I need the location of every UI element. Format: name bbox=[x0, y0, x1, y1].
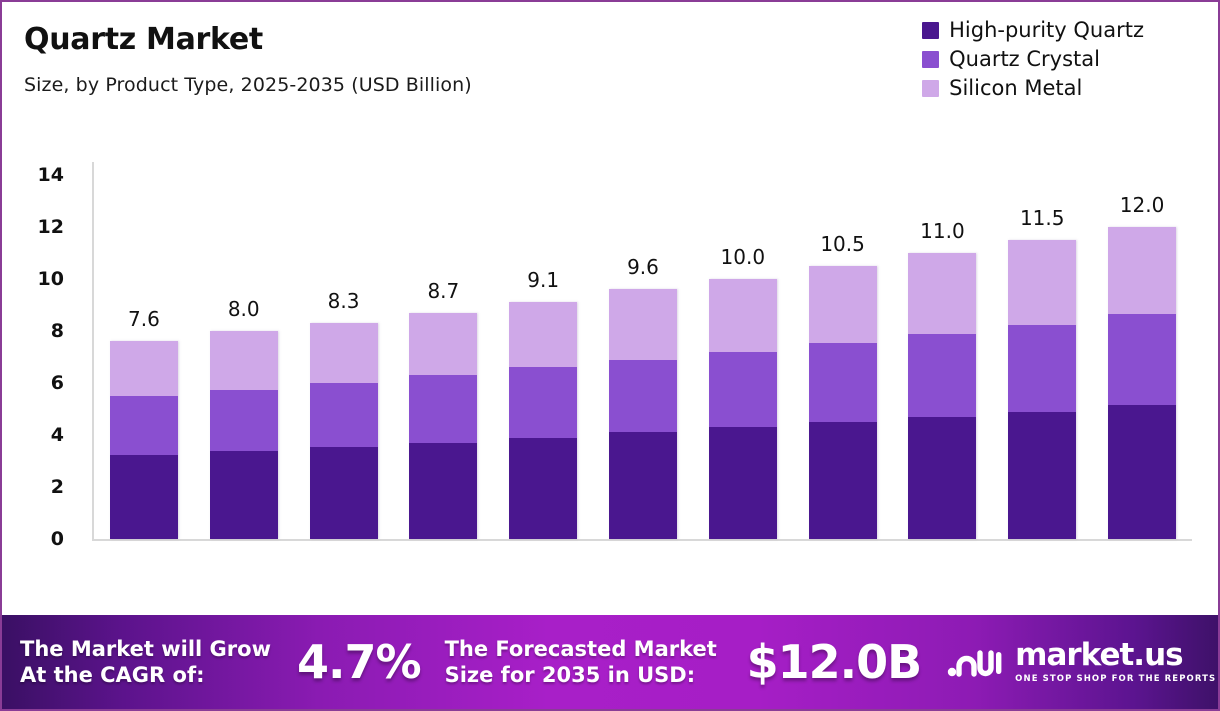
y-axis-tick-label: 0 bbox=[24, 528, 64, 550]
bar-segment-quartz-crystal[interactable] bbox=[509, 367, 577, 437]
bar-segment-quartz-crystal[interactable] bbox=[1008, 325, 1076, 412]
y-axis-tick-label: 2 bbox=[24, 476, 64, 498]
bar-group-2025[interactable]: 7.6 bbox=[110, 132, 178, 539]
bar-stack[interactable] bbox=[1008, 240, 1076, 539]
bar-segment-quartz-crystal[interactable] bbox=[409, 375, 477, 443]
bar-segment-silicon-metal[interactable] bbox=[210, 331, 278, 390]
y-axis-tick-label: 10 bbox=[24, 268, 64, 290]
bar-segment-high-purity-quartz[interactable] bbox=[310, 447, 378, 539]
bar-value-label: 12.0 bbox=[1120, 193, 1165, 217]
bar-segment-high-purity-quartz[interactable] bbox=[1108, 405, 1176, 539]
bar-stack[interactable] bbox=[509, 302, 577, 539]
bar-segment-quartz-crystal[interactable] bbox=[709, 352, 777, 427]
chart-header: Quartz Market Size, by Product Type, 202… bbox=[2, 2, 1218, 132]
brand-wordmark: market.us ONE STOP SHOP FOR THE REPORTS bbox=[1015, 640, 1216, 684]
bar-stack[interactable] bbox=[210, 331, 278, 539]
bar-segment-quartz-crystal[interactable] bbox=[1108, 314, 1176, 405]
bar-segment-high-purity-quartz[interactable] bbox=[709, 427, 777, 539]
plot-area: 02468101214 7.68.08.38.79.19.610.010.511… bbox=[2, 132, 1218, 607]
bar-segment-high-purity-quartz[interactable] bbox=[908, 417, 976, 539]
y-axis-tick-label: 14 bbox=[24, 164, 64, 186]
chart-legend: High-purity QuartzQuartz CrystalSilicon … bbox=[922, 20, 1144, 99]
bar-segment-quartz-crystal[interactable] bbox=[210, 390, 278, 451]
forecast-value: $12.0B bbox=[747, 635, 922, 689]
bar-value-label: 10.0 bbox=[721, 245, 766, 269]
bar-segment-silicon-metal[interactable] bbox=[409, 313, 477, 375]
bar-value-label: 9.1 bbox=[527, 268, 559, 292]
bar-segment-high-purity-quartz[interactable] bbox=[809, 422, 877, 539]
legend-swatch-icon bbox=[922, 51, 939, 68]
bar-value-label: 8.0 bbox=[228, 297, 260, 321]
bar-stack[interactable] bbox=[110, 341, 178, 539]
bar-group-2033[interactable]: 11.0 bbox=[908, 132, 976, 539]
bar-group-2029[interactable]: 9.1 bbox=[509, 132, 577, 539]
bar-segment-silicon-metal[interactable] bbox=[809, 266, 877, 343]
bar-group-2035[interactable]: 12.0 bbox=[1108, 132, 1176, 539]
bar-group-2027[interactable]: 8.3 bbox=[310, 132, 378, 539]
legend-item-label: High-purity Quartz bbox=[949, 20, 1144, 41]
bar-segment-high-purity-quartz[interactable] bbox=[609, 432, 677, 539]
bar-value-label: 8.3 bbox=[328, 289, 360, 313]
bar-group-2028[interactable]: 8.7 bbox=[409, 132, 477, 539]
x-axis-line bbox=[94, 539, 1192, 541]
bar-segment-quartz-crystal[interactable] bbox=[609, 360, 677, 433]
bar-group-2026[interactable]: 8.0 bbox=[210, 132, 278, 539]
bar-segment-quartz-crystal[interactable] bbox=[908, 334, 976, 417]
bar-stack[interactable] bbox=[809, 266, 877, 539]
legend-item-label: Quartz Crystal bbox=[949, 49, 1100, 70]
legend-item[interactable]: High-purity Quartz bbox=[922, 20, 1144, 41]
bar-group-2030[interactable]: 9.6 bbox=[609, 132, 677, 539]
bar-segment-high-purity-quartz[interactable] bbox=[509, 438, 577, 539]
chart-subtitle: Size, by Product Type, 2025-2035 (USD Bi… bbox=[24, 74, 472, 96]
bar-stack[interactable] bbox=[709, 279, 777, 539]
bar-value-label: 9.6 bbox=[627, 255, 659, 279]
bar-value-label: 10.5 bbox=[820, 232, 865, 256]
bar-stack[interactable] bbox=[409, 313, 477, 539]
bar-group-2034[interactable]: 11.5 bbox=[1008, 132, 1076, 539]
cagr-value: 4.7% bbox=[297, 635, 421, 689]
bar-segment-silicon-metal[interactable] bbox=[1108, 227, 1176, 314]
bar-value-label: 8.7 bbox=[427, 279, 459, 303]
bar-value-label: 11.5 bbox=[1020, 206, 1065, 230]
page-title: Quartz Market bbox=[24, 22, 263, 57]
brand-logo[interactable]: market.us ONE STOP SHOP FOR THE REPORTS bbox=[947, 640, 1216, 684]
forecast-label: The Forecasted Market Size for 2035 in U… bbox=[445, 636, 745, 689]
bar-stack[interactable] bbox=[310, 323, 378, 539]
bar-stack[interactable] bbox=[609, 289, 677, 539]
bar-segment-silicon-metal[interactable] bbox=[310, 323, 378, 383]
bar-segment-high-purity-quartz[interactable] bbox=[1008, 412, 1076, 539]
cagr-label: The Market will Grow At the CAGR of: bbox=[20, 636, 295, 689]
bar-group-2031[interactable]: 10.0 bbox=[709, 132, 777, 539]
bar-group-2032[interactable]: 10.5 bbox=[809, 132, 877, 539]
bar-segment-silicon-metal[interactable] bbox=[1008, 240, 1076, 325]
bar-segment-silicon-metal[interactable] bbox=[908, 253, 976, 334]
y-axis-tick-label: 4 bbox=[24, 424, 64, 446]
bar-segment-silicon-metal[interactable] bbox=[509, 302, 577, 367]
bar-series-group: 7.68.08.38.79.19.610.010.511.011.512.0 bbox=[94, 132, 1192, 539]
legend-item-label: Silicon Metal bbox=[949, 78, 1082, 99]
bar-stack[interactable] bbox=[908, 253, 976, 539]
bar-segment-quartz-crystal[interactable] bbox=[310, 383, 378, 447]
bar-segment-high-purity-quartz[interactable] bbox=[110, 455, 178, 540]
y-axis-tick-label: 8 bbox=[24, 320, 64, 342]
market-us-logo-icon bbox=[947, 644, 1005, 680]
y-axis-tick-label: 6 bbox=[24, 372, 64, 394]
bar-segment-high-purity-quartz[interactable] bbox=[409, 443, 477, 539]
brand-tagline: ONE STOP SHOP FOR THE REPORTS bbox=[1015, 674, 1216, 684]
bar-value-label: 7.6 bbox=[128, 307, 160, 331]
chart-card: Quartz Market Size, by Product Type, 202… bbox=[0, 0, 1220, 711]
bar-stack[interactable] bbox=[1108, 227, 1176, 539]
bar-value-label: 11.0 bbox=[920, 219, 965, 243]
y-axis-tick-label: 12 bbox=[24, 216, 64, 238]
bar-segment-silicon-metal[interactable] bbox=[110, 341, 178, 396]
bar-segment-quartz-crystal[interactable] bbox=[809, 343, 877, 422]
bar-segment-silicon-metal[interactable] bbox=[709, 279, 777, 352]
bar-segment-silicon-metal[interactable] bbox=[609, 289, 677, 359]
bar-segment-high-purity-quartz[interactable] bbox=[210, 451, 278, 539]
legend-item[interactable]: Silicon Metal bbox=[922, 78, 1082, 99]
brand-name: market.us bbox=[1015, 640, 1216, 671]
legend-swatch-icon bbox=[922, 22, 939, 39]
bar-segment-quartz-crystal[interactable] bbox=[110, 396, 178, 455]
legend-swatch-icon bbox=[922, 80, 939, 97]
footer-banner: The Market will Grow At the CAGR of: 4.7… bbox=[2, 615, 1218, 709]
legend-item[interactable]: Quartz Crystal bbox=[922, 49, 1100, 70]
